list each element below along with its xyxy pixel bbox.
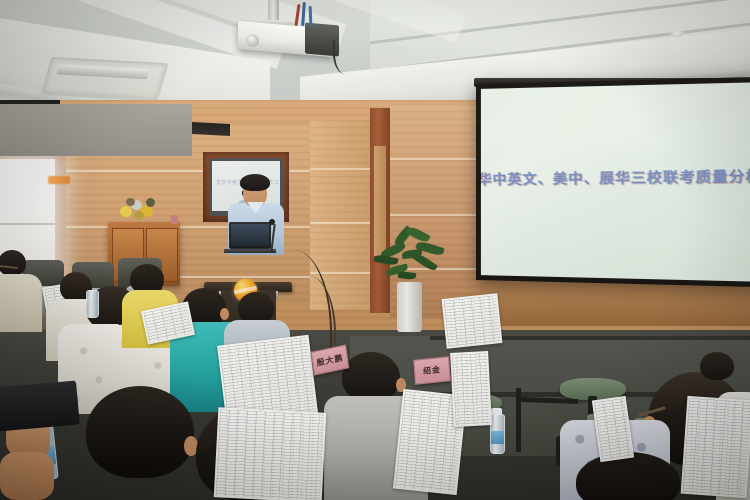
potted-plant-foliage xyxy=(372,228,450,286)
wood-seam xyxy=(390,158,480,160)
handout-paper xyxy=(450,351,492,427)
presenter-laptop xyxy=(229,222,271,249)
name-placard-right: 绍金 xyxy=(413,356,451,385)
head xyxy=(0,250,26,276)
paper-table-rows xyxy=(683,398,750,496)
laptop-screen xyxy=(231,224,269,246)
head xyxy=(342,352,400,402)
bottle-label xyxy=(491,431,504,444)
ceiling-air-vent xyxy=(40,57,168,101)
flower-petal xyxy=(134,211,144,220)
audience-laptop xyxy=(0,381,80,432)
hand xyxy=(0,452,54,500)
projector-cable-blue2 xyxy=(309,6,313,26)
torso xyxy=(0,274,42,332)
small-vase xyxy=(171,215,178,224)
paper-table-rows xyxy=(452,353,490,425)
plant-leaf xyxy=(405,225,430,244)
flower-petal xyxy=(120,206,132,217)
laptop-keyboard-base xyxy=(224,249,276,253)
handout-paper xyxy=(214,407,327,500)
presenter-hair xyxy=(240,174,270,191)
head xyxy=(86,386,194,478)
paper-table-rows xyxy=(216,409,324,500)
placard-right-text: 绍金 xyxy=(423,364,442,377)
paper-table-rows xyxy=(143,304,192,342)
ear xyxy=(220,308,229,320)
slide-title: 龙华中英文、美中、展华三校联考质量分析会 xyxy=(481,165,750,189)
wood-seam xyxy=(390,214,480,216)
plant-leaf xyxy=(373,254,398,267)
handout-paper xyxy=(681,396,750,498)
paper-table-rows xyxy=(594,398,632,460)
projection-screen-frame: 龙华中英文、美中、展华三校联考质量分析会 xyxy=(476,77,750,287)
plant-leaf xyxy=(398,271,417,280)
paper-table-rows xyxy=(444,295,501,346)
window-sill-highlight xyxy=(48,176,70,184)
projection-screen: 龙华中英文、美中、展华三校联考质量分析会 xyxy=(481,82,750,281)
wood-seam xyxy=(310,222,372,224)
window-mullion xyxy=(0,223,55,225)
placard-left-text: 殷大鹏 xyxy=(316,352,344,369)
head xyxy=(700,352,734,380)
flower-arrangement xyxy=(118,196,160,226)
wood-seam xyxy=(310,168,372,170)
microphone-capsule xyxy=(269,219,275,225)
handout-paper xyxy=(442,293,503,349)
flower-petal xyxy=(126,198,135,206)
air-vent-slot xyxy=(56,64,149,79)
bottle-cap xyxy=(491,408,502,415)
projector-mount xyxy=(268,0,279,22)
flower-petal xyxy=(146,198,155,207)
water-bottle xyxy=(490,414,505,454)
conference-room-photo: 龙华中英文、美中、展华三校联考 龙华中英文、美中、展华三校联考质量分析会 xyxy=(0,0,750,500)
water-bottle xyxy=(86,290,99,318)
projector-lens xyxy=(246,33,259,47)
window-blinds xyxy=(0,104,192,156)
potted-plant-planter xyxy=(397,282,422,332)
